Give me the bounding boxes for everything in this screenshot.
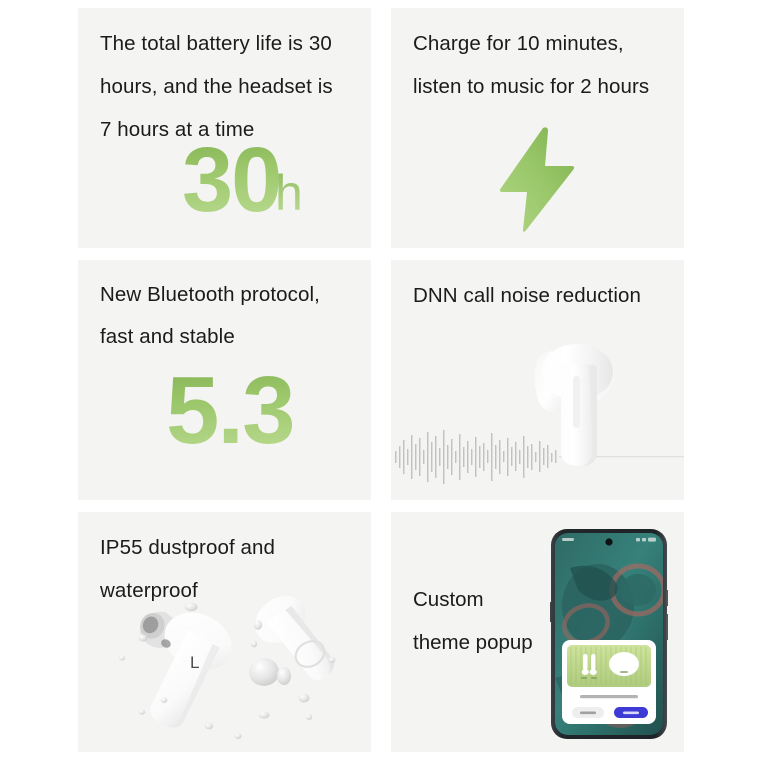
earbud-channel-label: L: [190, 653, 199, 672]
figure-bluetooth-version: 5.3: [166, 363, 293, 459]
card-title-custom-theme: Custom theme popup: [391, 578, 533, 664]
feature-card-custom-theme: Custom theme popup: [391, 512, 684, 752]
card-title-battery-life: The total battery life is 30 hours, and …: [78, 8, 371, 151]
feature-card-fast-charge: Charge for 10 minutes, listen to music f…: [391, 8, 684, 248]
card-title-fast-charge: Charge for 10 minutes, listen to music f…: [391, 8, 684, 108]
feature-card-grid: The total battery life is 30 hours, and …: [78, 8, 684, 752]
feature-card-battery-life: The total battery life is 30 hours, and …: [78, 8, 371, 248]
lightning-bolt-icon: [487, 126, 587, 234]
card-title-bluetooth: New Bluetooth protocol, fast and stable: [78, 260, 371, 358]
phone-popup-illustration: [550, 528, 668, 740]
card-title-noise-reduction: DNN call noise reduction: [391, 260, 684, 317]
card-title-waterproof: IP55 dustproof and waterproof: [78, 512, 371, 612]
figure-unit-hours: h: [275, 168, 303, 218]
feature-card-bluetooth: New Bluetooth protocol, fast and stable …: [78, 260, 371, 500]
feature-card-waterproof: L: [78, 512, 371, 752]
feature-card-noise-reduction: DNN call noise reduction: [391, 260, 684, 500]
